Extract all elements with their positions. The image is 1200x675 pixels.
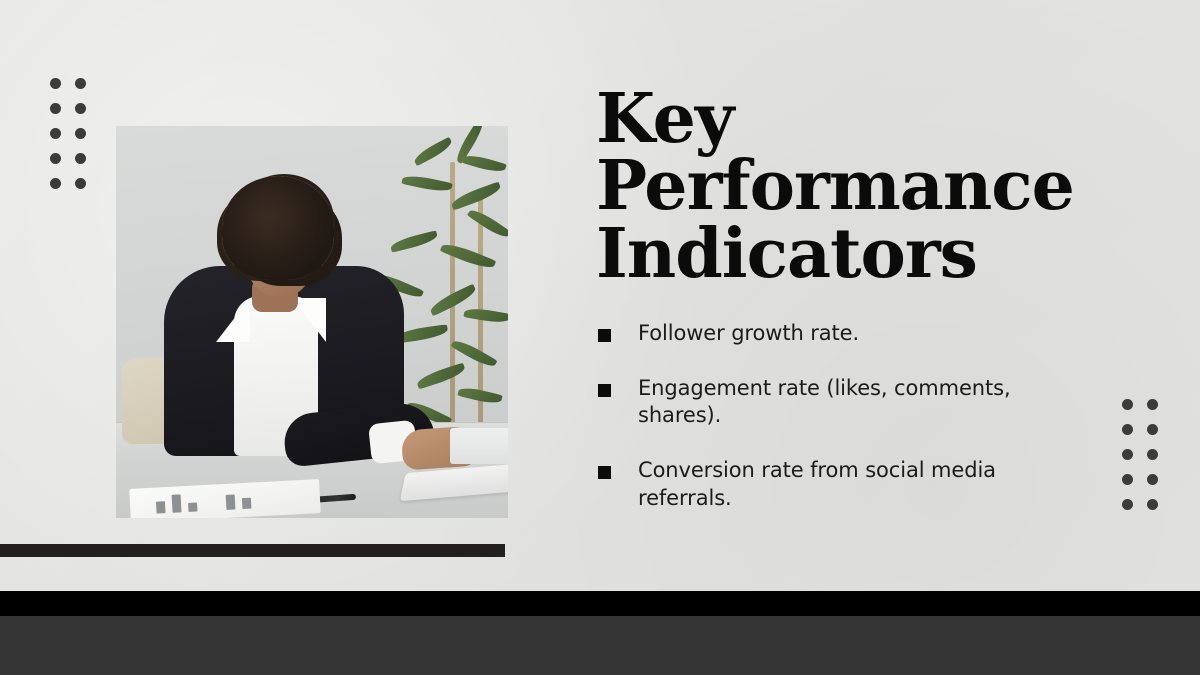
square-bullet-icon	[598, 329, 611, 342]
monitor-edge	[450, 428, 508, 464]
dot-icon	[1122, 424, 1133, 435]
list-item: Conversion rate from social media referr…	[598, 457, 1068, 512]
dot-icon	[1147, 399, 1158, 410]
photo-illustration	[116, 126, 508, 518]
footer-band-black	[0, 591, 1200, 616]
footer-band-gray	[0, 616, 1200, 675]
dot-icon	[50, 153, 61, 164]
shirt-collar-left	[216, 298, 250, 342]
person-hair	[222, 176, 334, 280]
list-item-label: Engagement rate (likes, comments, shares…	[638, 375, 1068, 430]
dot-icon	[75, 128, 86, 139]
dot-icon	[75, 78, 86, 89]
dot-icon	[75, 103, 86, 114]
dot-icon	[1122, 474, 1133, 485]
dot-icon	[1147, 449, 1158, 460]
dot-icon	[75, 153, 86, 164]
square-bullet-icon	[598, 466, 611, 479]
dot-icon	[1122, 499, 1133, 510]
page-title-line-3: Indicators	[596, 221, 1156, 288]
page-title-line-1: Key	[596, 86, 1156, 153]
list-item-label: Follower growth rate.	[638, 320, 859, 348]
dot-grid-left-icon	[50, 78, 86, 189]
dot-icon	[1122, 399, 1133, 410]
dot-icon	[1122, 449, 1133, 460]
dot-icon	[1147, 499, 1158, 510]
slide-photo	[116, 126, 508, 518]
dot-grid-right-icon	[1122, 399, 1158, 510]
list-item-label: Conversion rate from social media referr…	[638, 457, 1068, 512]
page-title-line-2: Performance	[596, 153, 1156, 220]
dot-icon	[1147, 474, 1158, 485]
page-title: Key Performance Indicators	[596, 86, 1156, 288]
dot-icon	[50, 128, 61, 139]
dot-icon	[1147, 424, 1158, 435]
dot-icon	[75, 178, 86, 189]
dot-icon	[50, 178, 61, 189]
square-bullet-icon	[598, 384, 611, 397]
dot-icon	[50, 78, 61, 89]
slide-canvas: Key Performance Indicators Follower grow…	[0, 0, 1200, 675]
dot-icon	[50, 103, 61, 114]
list-item: Follower growth rate.	[598, 320, 1068, 348]
list-item: Engagement rate (likes, comments, shares…	[598, 375, 1068, 430]
kpi-bullet-list: Follower growth rate. Engagement rate (l…	[598, 320, 1068, 513]
accent-bar	[0, 544, 505, 557]
